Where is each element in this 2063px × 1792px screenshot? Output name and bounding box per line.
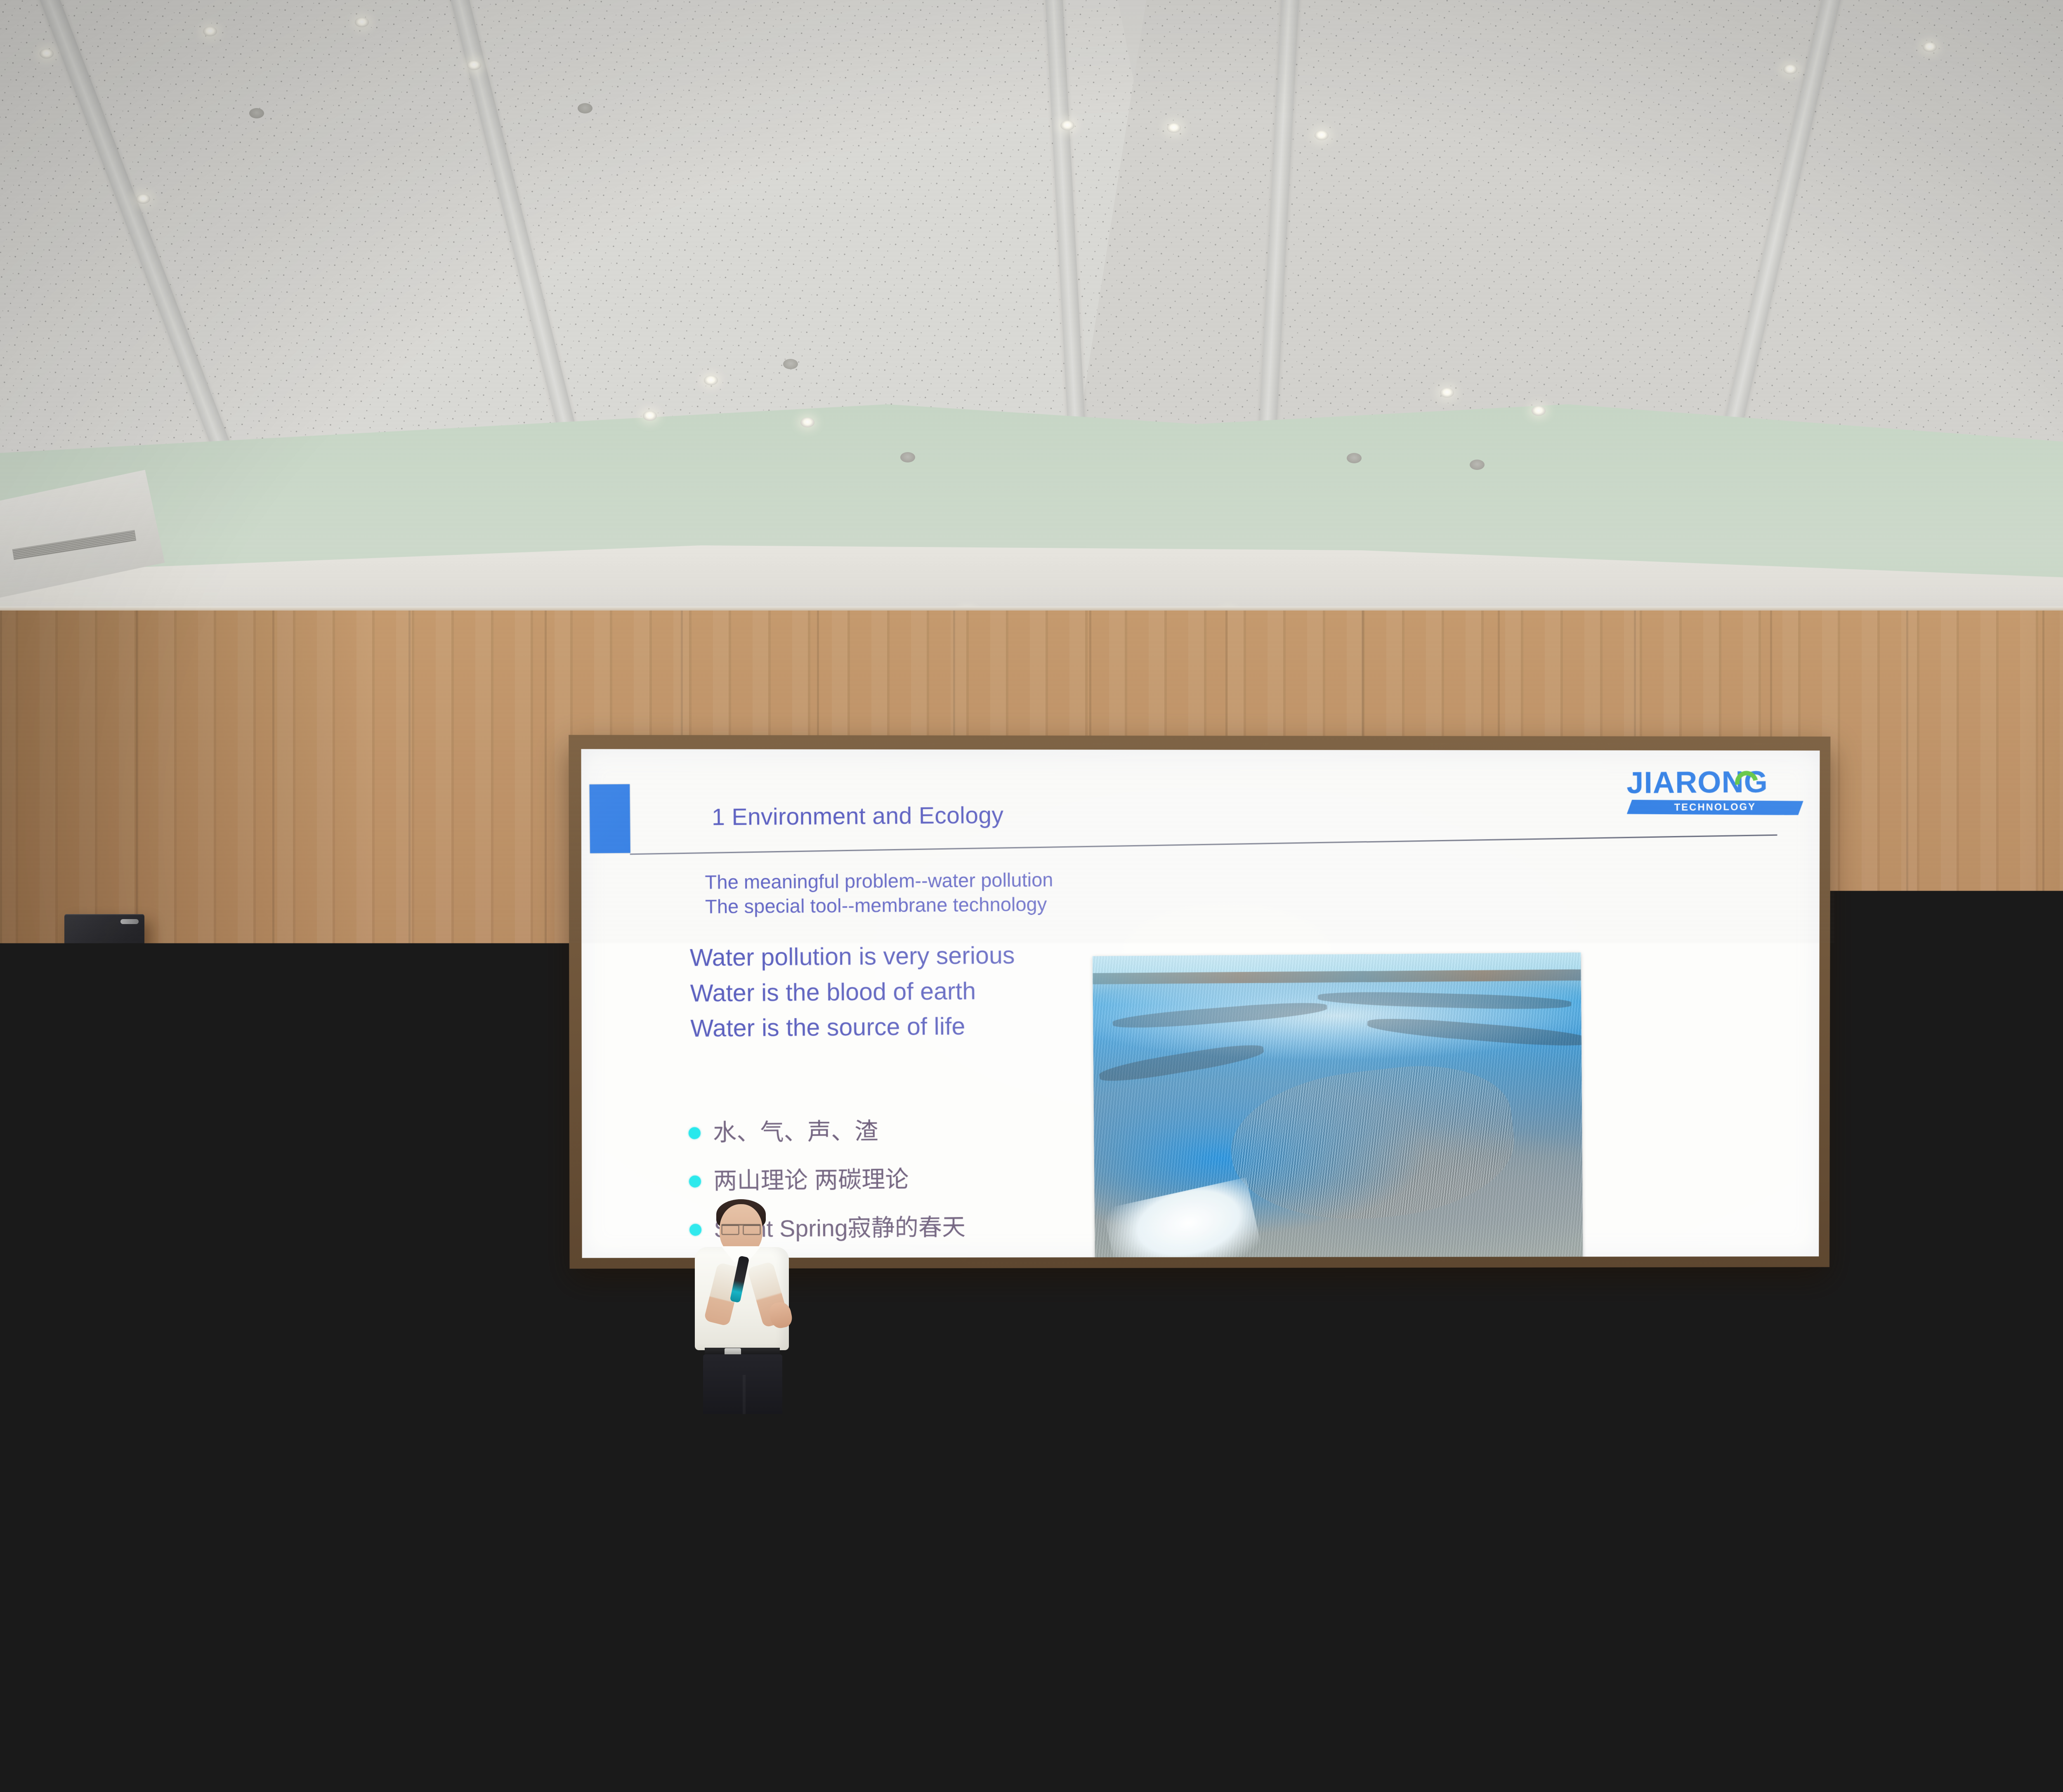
conference-hall-scene: 1 Environment and Ecology The meaningful… — [0, 0, 2063, 1792]
seat[interactable] — [1447, 1676, 1705, 1792]
seat[interactable] — [1706, 1675, 1964, 1792]
seat[interactable] — [858, 1395, 984, 1470]
audience-head — [363, 1337, 433, 1399]
downlight — [1167, 123, 1181, 133]
projection-screen: 1 Environment and Ecology The meaningful… — [581, 749, 1820, 1258]
slide-subtitle-line-1: The meaningful problem--water pollution — [705, 867, 1053, 894]
seat[interactable] — [132, 1571, 318, 1695]
seat[interactable] — [1283, 1566, 1474, 1695]
slide-bullet-label: 水、气、声、渣 — [713, 1120, 878, 1145]
jiarong-tagline: TECHNOLOGY — [1674, 802, 1756, 813]
downlight — [467, 60, 481, 70]
projection-screen-frame: 1 Environment and Ecology The meaningful… — [569, 735, 1830, 1269]
photo-foam — [1102, 1177, 1263, 1258]
seat[interactable] — [322, 1570, 508, 1695]
wall-shadow-left — [0, 611, 371, 1394]
slide-bullet-label: 两山理论 两碳理论 — [713, 1168, 909, 1193]
seat[interactable] — [704, 1568, 892, 1695]
jiarong-logo: JIARONG TECHNOLOGY — [1626, 767, 1803, 816]
seat[interactable] — [677, 1678, 932, 1792]
slide-lead-line-2: Water is the blood of earth — [690, 973, 1015, 1011]
downlight-off — [578, 103, 592, 113]
seat[interactable] — [425, 1467, 574, 1562]
seat[interactable] — [1994, 1460, 2063, 1561]
bullet-dot-icon — [689, 1127, 701, 1139]
seat[interactable] — [386, 1685, 634, 1792]
downlight — [1783, 64, 1797, 74]
downlight-off — [783, 359, 798, 369]
slide-bullet-item: 两山理论 两碳理论 — [689, 1167, 965, 1193]
seat[interactable] — [124, 1394, 248, 1469]
downlight — [1315, 130, 1329, 140]
seat[interactable] — [896, 1568, 1085, 1695]
slide-subtitle-line-2: The special tool--membrane technology — [705, 892, 1054, 919]
seat[interactable] — [1952, 1387, 2063, 1466]
downlight — [40, 49, 54, 59]
seat[interactable] — [933, 1677, 1189, 1792]
seat[interactable] — [1622, 1389, 1753, 1467]
photo-sandbar — [1367, 1015, 1583, 1049]
ceiling — [0, 0, 2063, 644]
seat[interactable] — [1155, 1392, 1283, 1469]
bullet-dot-icon — [689, 1175, 701, 1187]
downlight — [203, 26, 217, 36]
photo-sandbar — [1318, 990, 1572, 1011]
photo-sandbar — [1098, 1040, 1265, 1086]
slide-title: 1 Environment and Ecology — [712, 802, 1004, 831]
downlight-off — [1347, 453, 1362, 463]
presenter-glasses — [721, 1224, 761, 1231]
speaker-mount-left — [99, 1019, 113, 1056]
slide-lead-line-1: Water pollution is very serious — [690, 938, 1015, 976]
downlight-off — [900, 452, 915, 462]
downlight — [1532, 406, 1546, 416]
seat[interactable] — [120, 1469, 268, 1563]
wall-shadow-right — [2018, 611, 2063, 1394]
seat[interactable] — [1965, 1674, 2063, 1792]
photo-sediment-flat — [1224, 1055, 1521, 1233]
wall-speaker-left — [64, 914, 144, 1028]
seat[interactable] — [0, 1686, 140, 1792]
photo-horizon-line — [1093, 969, 1581, 984]
photo-sandbar — [1112, 999, 1328, 1031]
seat[interactable] — [1190, 1676, 1447, 1792]
seat[interactable] — [0, 1572, 128, 1695]
downlight — [136, 194, 150, 204]
slide-lead-block: Water pollution is very serious Water is… — [690, 938, 1016, 1046]
slide-lead-line-3: Water is the source of life — [690, 1009, 1015, 1047]
audience-area — [0, 1287, 2063, 1792]
slide-header-rule — [630, 835, 1777, 855]
downlight — [800, 417, 814, 427]
slide-photo-water-pollution — [1093, 953, 1583, 1258]
audience-head — [792, 1349, 865, 1413]
slide-bullet-item: 水、气、声、渣 — [689, 1119, 965, 1145]
seat[interactable] — [139, 1686, 387, 1792]
slide-accent-square — [590, 784, 630, 853]
jiarong-tagline-bar: TECHNOLOGY — [1627, 799, 1803, 816]
seat[interactable] — [578, 1466, 729, 1562]
downlight — [1440, 388, 1454, 398]
downlight-off — [1470, 460, 1485, 470]
downlight-off — [249, 108, 264, 118]
downlight — [1060, 120, 1074, 130]
downlight — [355, 17, 369, 27]
presentation-slide: 1 Environment and Ecology The meaningful… — [581, 749, 1820, 1258]
seat[interactable] — [0, 1469, 116, 1563]
downlight — [704, 375, 718, 385]
downlight — [643, 411, 657, 421]
downlight — [1923, 42, 1937, 52]
slide-subtitle-block: The meaningful problem--water pollution … — [705, 867, 1053, 919]
jiarong-wordmark: JIARONG — [1626, 767, 1803, 797]
